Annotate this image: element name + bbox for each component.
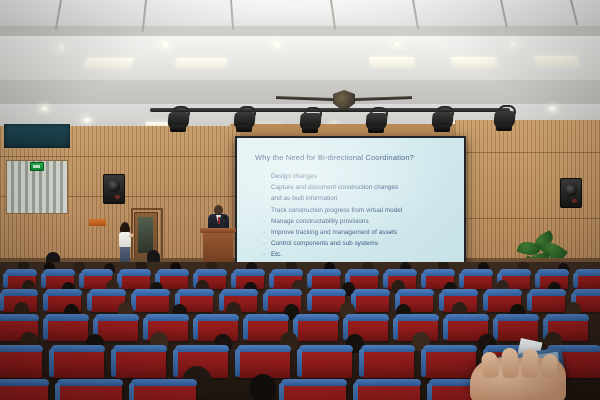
wall-speaker-right [560, 178, 582, 208]
auditorium-seat[interactable] [462, 272, 492, 289]
auditorium-seat[interactable] [300, 348, 352, 378]
auditorium-seat[interactable] [52, 348, 104, 378]
auditorium-seat[interactable] [296, 317, 338, 341]
auditorium-seat[interactable] [114, 348, 166, 378]
wall-speaker-left [103, 174, 125, 204]
ceiling-downlight [272, 42, 282, 48]
assistant-skirt [120, 247, 130, 263]
auditorium-seat[interactable] [310, 272, 340, 289]
auditorium-seat[interactable] [0, 382, 48, 400]
stage-light-lens [496, 124, 512, 131]
auditorium-seat[interactable] [362, 348, 414, 378]
auditorium-seat[interactable] [356, 382, 420, 400]
ceiling-downlight [508, 40, 518, 46]
slide-bullet: - Capture and document construction chan… [263, 183, 456, 192]
ceiling-band-shadow [0, 26, 600, 36]
wall-seam [0, 156, 240, 157]
projection-screen-frame: Why the Need for Bi-directional Coordina… [235, 136, 466, 267]
bullet-text: Manage constructability provisions [271, 217, 369, 226]
auditorium-photo: Why the Need for Bi-directional Coordina… [0, 0, 600, 400]
ceiling-panel-light [84, 58, 134, 67]
auditorium-seat[interactable] [0, 348, 42, 378]
auditorium-seat[interactable] [134, 292, 169, 312]
finger [521, 349, 538, 379]
door-window [138, 217, 153, 253]
bullet-marker-icon: - [263, 183, 271, 192]
bullet-text: Capture and document construction change… [271, 183, 398, 192]
bullet-marker-icon: - [263, 228, 271, 237]
finger [540, 353, 558, 379]
ceiling-downlight [160, 42, 171, 48]
bullet-text: Control components and sub systems [271, 239, 378, 248]
speaker-tweeter [115, 195, 120, 199]
stage-light-lens [434, 125, 450, 132]
ceiling-panel-light [369, 57, 415, 66]
wall-seam [466, 152, 600, 153]
ceiling-downlight [40, 106, 49, 111]
exit-sign-icon [30, 162, 44, 171]
slide-title: Why the Need for Bi-directional Coordina… [255, 153, 456, 162]
auditorium-seat[interactable] [58, 382, 122, 400]
ceiling-band-upper [0, 0, 600, 26]
projection-screen: Why the Need for Bi-directional Coordina… [237, 138, 464, 265]
slide-bullet-list: - Design changes - Capture and document … [263, 172, 456, 262]
speaker-cone [565, 184, 577, 196]
auditorium-seat[interactable] [132, 382, 196, 400]
bullet-text: Etc. [271, 250, 282, 259]
bullet-text: Track construction progress from virtual… [271, 206, 402, 215]
stage-light-lens [368, 126, 384, 133]
ceiling-downlight [392, 41, 402, 47]
ceiling-panel-light [534, 56, 580, 65]
auditorium-seat[interactable] [46, 317, 88, 341]
auditorium-seat[interactable] [120, 272, 150, 289]
ceiling-panel-light [451, 57, 498, 66]
slide-bullet: - Manage constructability provisions [263, 217, 456, 226]
bullet-marker-icon: - [263, 206, 271, 215]
bullet-marker-icon: - [263, 217, 271, 226]
stage-light-lens [236, 125, 252, 132]
auditorium-seat[interactable] [282, 382, 346, 400]
audience-head [250, 374, 276, 400]
bullet-text: Improve tracking and management of asset… [271, 228, 397, 237]
bullet-text: Design changes [271, 172, 317, 181]
slide-bullet: - Design changes [263, 172, 456, 181]
lighting-truss [150, 108, 510, 112]
ceiling-downlight [548, 106, 557, 111]
foreground-hand [470, 358, 566, 400]
stage-light-lens [170, 125, 186, 132]
podium-top [200, 228, 236, 233]
slide-bullet: - Improve tracking and management of ass… [263, 228, 456, 237]
bullet-marker-icon: - [263, 250, 271, 259]
ceiling-panel-light [175, 58, 227, 67]
finger [501, 348, 518, 379]
auditorium-seat[interactable] [354, 292, 389, 312]
bullet-marker-icon: - [263, 172, 271, 181]
auditorium-seat[interactable] [576, 272, 600, 289]
wall-plaque [89, 219, 106, 226]
ceiling-downlight [56, 44, 67, 50]
wall-seam [466, 218, 600, 219]
slide-bullet: - Etc. [263, 250, 456, 259]
auditorium-seat[interactable] [424, 348, 476, 378]
presenter-tie [218, 217, 220, 224]
ceiling-downlight [83, 118, 91, 122]
slide-bullet: - Control components and sub systems [263, 239, 456, 248]
auditorium-seat[interactable] [530, 292, 565, 312]
finger [481, 351, 500, 379]
upper-wall-panel [4, 124, 70, 148]
slide-bullet-continuation: - and as-built information [263, 194, 456, 203]
bullet-marker-icon: - [263, 239, 271, 248]
slide-bullet: - Track construction progress from virtu… [263, 206, 456, 215]
speaker-tweeter [572, 199, 577, 203]
stage-light-lens [302, 126, 318, 133]
speaker-cone [108, 180, 120, 192]
bullet-text: and as-built information [271, 194, 337, 203]
auditorium-seat[interactable] [496, 317, 538, 341]
standing-assistant [118, 222, 132, 267]
